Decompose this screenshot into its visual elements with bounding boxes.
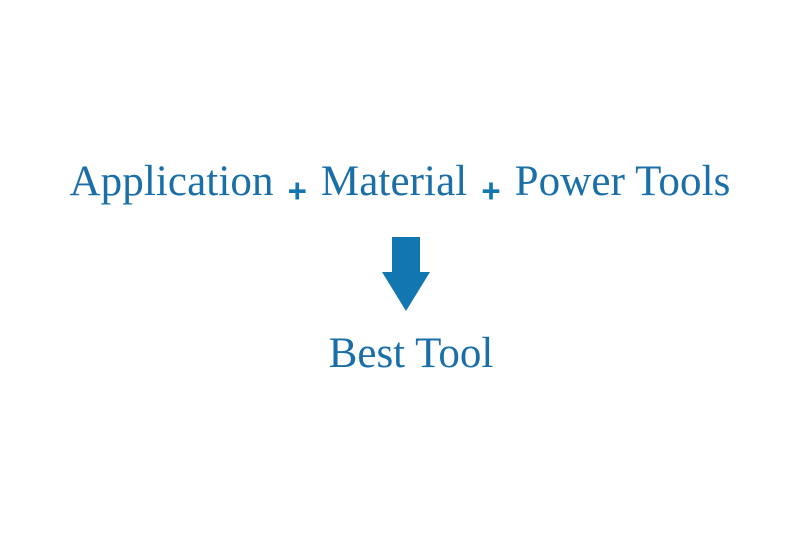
equation-term-power-tools: Power Tools [515, 160, 731, 203]
result-label: Best Tool [329, 332, 494, 375]
arrow-down-icon [381, 235, 431, 313]
plus-operator-2: + [481, 174, 500, 207]
arrow-down-glyph [381, 235, 431, 313]
arrow-down-shape [382, 237, 430, 311]
equation-row: Application + Material + Power Tools [0, 160, 800, 216]
diagram-canvas: Application + Material + Power Tools Bes… [0, 0, 800, 550]
plus-operator-1: + [288, 174, 307, 207]
result-row: Best Tool [0, 332, 800, 388]
equation-term-application: Application [69, 160, 273, 203]
equation-term-material: Material [321, 160, 467, 203]
